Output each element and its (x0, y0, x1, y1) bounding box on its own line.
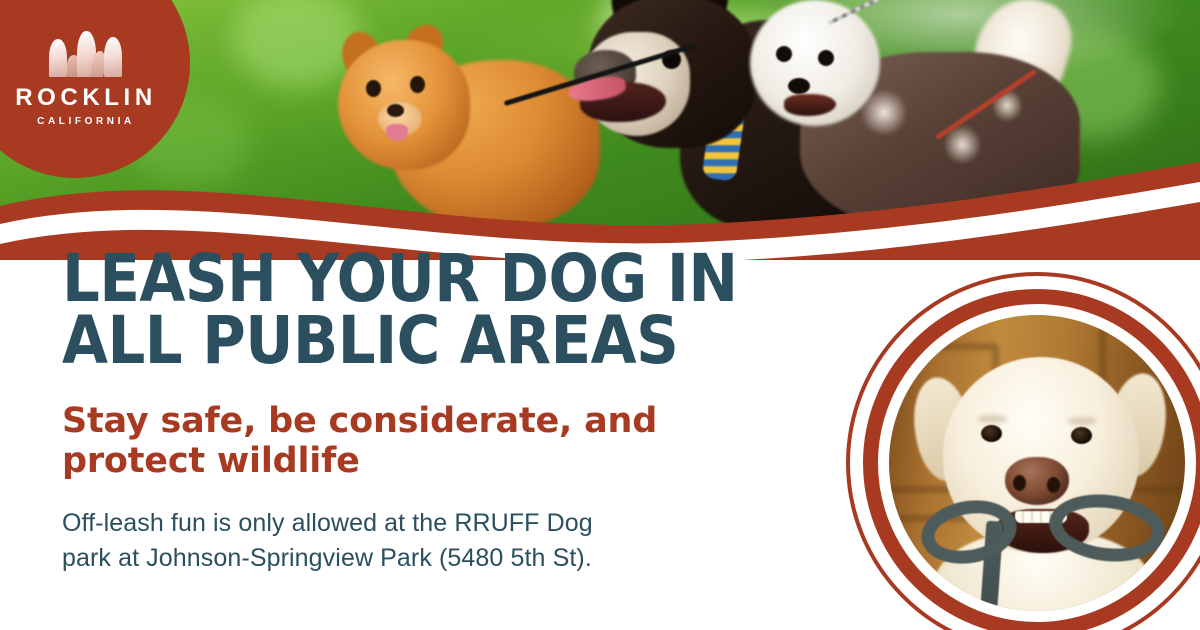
labrador-brow-left (977, 415, 1007, 423)
logo-wordmark: ROCKLIN (15, 86, 157, 110)
labrador-brow-right (1067, 417, 1097, 425)
logo-tagline: CALIFORNIA (37, 117, 135, 127)
message-content: LEASH YOUR DOG IN ALL PUBLIC AREAS Stay … (62, 248, 852, 576)
subheading: Stay safe, be considerate, and protect w… (62, 402, 852, 482)
rock-shape (104, 37, 122, 77)
body-line-1: Off-leash fun is only allowed at the RRU… (62, 506, 852, 541)
headline-line-2: ALL PUBLIC AREAS (62, 310, 852, 372)
pomeranian-eye-right (410, 76, 425, 93)
subhead-line-1: Stay safe, be considerate, and (62, 402, 852, 442)
pomeranian-eye-left (366, 80, 381, 97)
subhead-line-2: protect wildlife (62, 442, 852, 482)
labrador-eye-right (1071, 427, 1092, 444)
chinese-crested-nose (788, 78, 810, 94)
leash-your-dog-poster: ROCKLIN CALIFORNIA LEASH YOUR DOG IN ALL… (0, 0, 1200, 630)
labrador-photo (889, 315, 1185, 611)
pomeranian-tongue (386, 124, 408, 141)
hero-dog-chinese-crested (740, 0, 1140, 232)
labrador-nostril-right (1047, 477, 1060, 493)
page-title: LEASH YOUR DOG IN ALL PUBLIC AREAS (62, 248, 852, 372)
body-line-2: park at Johnson-Springview Park (5480 5t… (62, 541, 852, 576)
rocklin-rock-formation-icon (47, 25, 125, 77)
chinese-crested-eye-left (776, 46, 792, 62)
labrador-nostril-left (1013, 475, 1026, 491)
labrador-photo-frame (846, 272, 1200, 630)
labrador-eye-left (981, 425, 1002, 442)
headline-line-1: LEASH YOUR DOG IN (62, 248, 852, 310)
rock-shape (49, 39, 67, 77)
chinese-crested-eye-right (818, 50, 834, 66)
pomeranian-nose (387, 104, 404, 117)
body-text: Off-leash fun is only allowed at the RRU… (62, 506, 852, 576)
